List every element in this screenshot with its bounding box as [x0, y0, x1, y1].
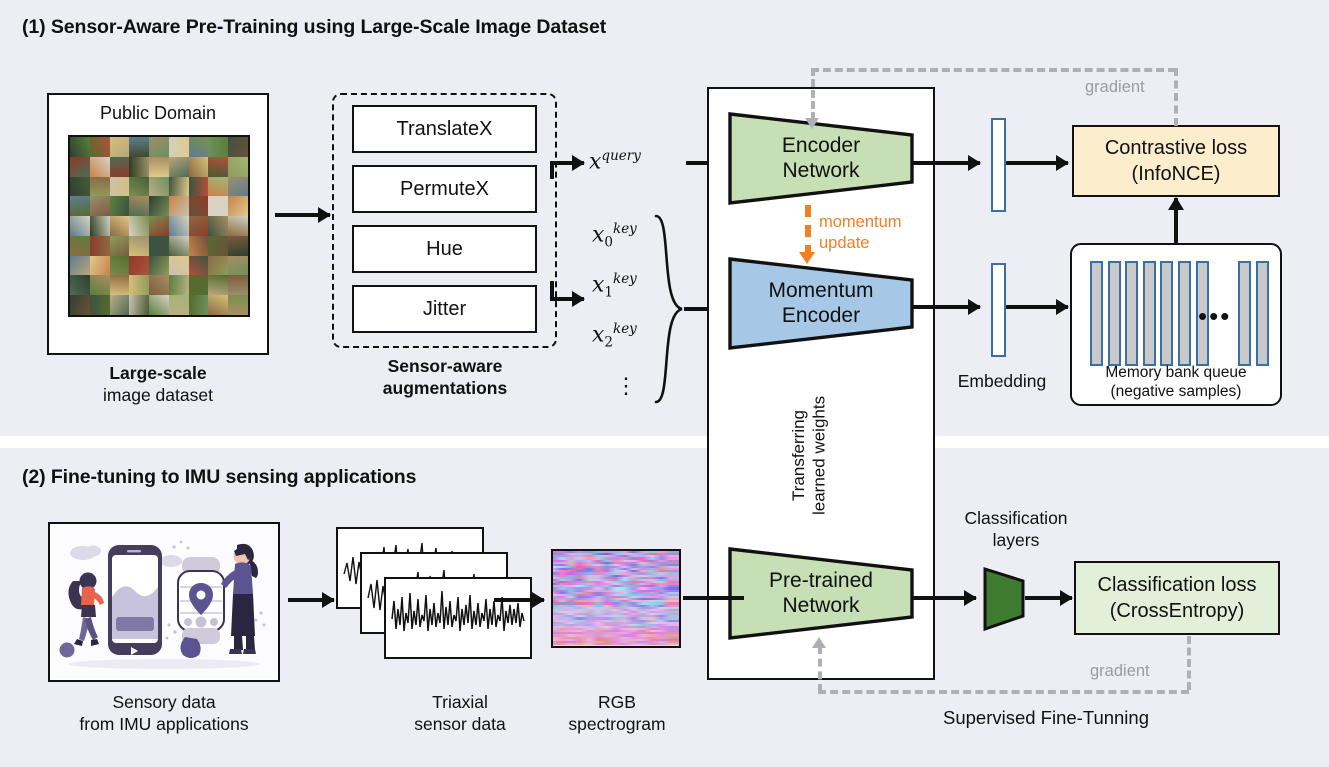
- mosaic-tile: [90, 256, 110, 276]
- mosaic-tile: [110, 216, 130, 236]
- mosaic-tile: [129, 275, 149, 295]
- gradient-top-right-vertical: [1174, 68, 1178, 126]
- encoder-network-label: Encoder Network: [782, 134, 860, 182]
- mosaic-tile: [110, 196, 130, 216]
- dataset-header: Public Domain: [47, 103, 269, 124]
- memory-bank-bar: [1238, 261, 1251, 366]
- mosaic-tile: [169, 256, 189, 276]
- sensory-data-caption: Sensory data from IMU applications: [10, 692, 318, 736]
- section-1-title: (1) Sensor-Aware Pre-Training using Larg…: [22, 16, 606, 39]
- mosaic-tile: [189, 216, 209, 236]
- classification-layers-shape: [982, 566, 1026, 632]
- mosaic-tile: [70, 216, 90, 236]
- query-label: xquery: [589, 148, 641, 174]
- mosaic-tile: [169, 275, 189, 295]
- waveform-plot-3: [386, 579, 530, 657]
- key-label-1: x1key: [592, 271, 637, 301]
- mosaic-tile: [189, 256, 209, 276]
- query-symbol: x: [589, 149, 601, 174]
- augmentation-item-hue[interactable]: Hue: [352, 225, 537, 273]
- memory-bank-bar: [1090, 261, 1103, 366]
- mosaic-tile: [189, 196, 209, 216]
- memory-bank-bar: [1256, 261, 1269, 366]
- mosaic-tile: [208, 236, 228, 256]
- arrow-pretrained-to-classification-layers: [912, 596, 976, 600]
- mosaic-tile: [228, 216, 248, 236]
- momentum-encoder-block[interactable]: Momentum Encoder: [726, 255, 916, 352]
- mosaic-tile: [70, 256, 90, 276]
- mosaic-tile: [70, 295, 90, 315]
- mosaic-tile: [149, 177, 169, 197]
- arrow-classification-layers-to-loss: [1025, 596, 1072, 600]
- arrow-embedding-to-memory-bank: [1006, 305, 1068, 309]
- gradient-bottom-horizontal: [818, 690, 1189, 694]
- mosaic-tile: [228, 275, 248, 295]
- mosaic-tile: [208, 196, 228, 216]
- mosaic-tile: [189, 137, 209, 157]
- mosaic-tile: [189, 177, 209, 197]
- section-2-title: (2) Fine-tuning to IMU sensing applicati…: [22, 466, 416, 489]
- spectrogram-caption: RGB spectrogram: [538, 692, 696, 736]
- dataset-image-grid: [68, 135, 250, 317]
- imu-illustration-svg: [51, 525, 277, 679]
- mosaic-tile: [208, 256, 228, 276]
- memory-bank-bar: [1160, 261, 1173, 366]
- mosaic-tile: [129, 256, 149, 276]
- contrastive-loss-box[interactable]: Contrastive loss (InfoNCE): [1072, 125, 1280, 197]
- mosaic-tile: [70, 137, 90, 157]
- mosaic-tile: [208, 177, 228, 197]
- mosaic-tile: [228, 137, 248, 157]
- mosaic-tile: [189, 295, 209, 315]
- mosaic-tile: [228, 295, 248, 315]
- momentum-encoder-label: Momentum Encoder: [768, 279, 873, 327]
- dataset-caption-rest: image dataset: [103, 385, 213, 405]
- mosaic-tile: [228, 236, 248, 256]
- mosaic-tile: [228, 177, 248, 197]
- mosaic-tile: [149, 196, 169, 216]
- gradient-bottom-label: gradient: [1090, 662, 1150, 681]
- mosaic-tile: [90, 157, 110, 177]
- mosaic-tile: [110, 157, 130, 177]
- mosaic-tile: [169, 196, 189, 216]
- line-spectrogram-to-pretrained-network: [683, 596, 744, 600]
- arrow-momentum-encoder-to-embedding: [912, 305, 980, 309]
- mosaic-tile: [70, 157, 90, 177]
- mosaic-tile: [169, 236, 189, 256]
- augmentations-caption-line1: Sensor-aware: [388, 356, 503, 376]
- mosaic-tile: [149, 236, 169, 256]
- classification-layers-block[interactable]: [982, 566, 1026, 632]
- triaxial-caption: Triaxial sensor data: [352, 692, 568, 736]
- gradient-top-horizontal: [811, 68, 1176, 72]
- mosaic-tile: [189, 275, 209, 295]
- mosaic-tile: [90, 196, 110, 216]
- memory-bank-bar: [1108, 261, 1121, 366]
- mosaic-tile: [169, 157, 189, 177]
- gradient-top-label: gradient: [1085, 78, 1145, 97]
- mosaic-tile: [228, 256, 248, 276]
- mosaic-tile: [208, 275, 228, 295]
- momentum-update-arrowhead-icon: [799, 252, 815, 264]
- mosaic-tile: [129, 216, 149, 236]
- mosaic-tile: [208, 157, 228, 177]
- keys-ellipsis: ⋮: [615, 380, 637, 391]
- key-label-2: x2key: [592, 321, 637, 351]
- mosaic-tile: [228, 196, 248, 216]
- mosaic-tile: [129, 236, 149, 256]
- contrastive-loss-label: Contrastive loss (InfoNCE): [1105, 135, 1247, 187]
- gradient-bottom-left-vertical: [818, 646, 822, 692]
- mosaic-tile: [169, 137, 189, 157]
- classification-loss-box[interactable]: Classification loss (CrossEntropy): [1074, 561, 1280, 635]
- embedding-bar-key: [991, 263, 1006, 357]
- mosaic-tile: [70, 177, 90, 197]
- supervised-finetuning-label: Supervised Fine-Tunning: [876, 706, 1216, 729]
- transfer-weights-note: Transferring learned weights: [789, 375, 830, 535]
- encoder-network-block[interactable]: Encoder Network: [726, 110, 916, 207]
- arrow-sensory-to-triaxial: [288, 598, 334, 602]
- mosaic-tile: [110, 236, 130, 256]
- memory-bank-bar: [1143, 261, 1156, 366]
- mosaic-tile: [129, 196, 149, 216]
- mosaic-tile: [110, 275, 130, 295]
- mosaic-tile: [189, 157, 209, 177]
- classification-layers-label: Classification layers: [942, 508, 1090, 552]
- mosaic-tile: [70, 275, 90, 295]
- mosaic-tile: [90, 275, 110, 295]
- gradient-top-left-vertical: [811, 68, 815, 120]
- augmentations-caption-line2: augmentations: [383, 378, 507, 398]
- mosaic-tile: [149, 137, 169, 157]
- mosaic-tile: [110, 177, 130, 197]
- mosaic-tile: [70, 196, 90, 216]
- dataset-caption-bold: Large-scale: [109, 363, 206, 383]
- mosaic-tile: [110, 256, 130, 276]
- mosaic-tile: [208, 216, 228, 236]
- mosaic-tile: [169, 177, 189, 197]
- mosaic-tile: [208, 295, 228, 315]
- sensory-data-illustration: [51, 525, 277, 679]
- memory-bank-bar: [1178, 261, 1191, 366]
- mosaic-tile: [70, 236, 90, 256]
- arrow-encoder-to-embedding: [912, 161, 980, 165]
- mosaic-tile: [129, 177, 149, 197]
- arrow-embedding-to-contrastive-loss: [1006, 161, 1068, 165]
- triaxial-frame-front: [384, 577, 532, 659]
- augmentations-caption: Sensor-aware augmentations: [320, 356, 570, 400]
- augmentation-item-permutex[interactable]: PermuteX: [352, 165, 537, 213]
- pretrained-network-label: Pre-trained Network: [769, 569, 873, 617]
- gradient-bottom-arrowhead-icon: [812, 637, 826, 648]
- mosaic-tile: [129, 295, 149, 315]
- rgb-spectrogram-image: [551, 549, 681, 648]
- pretrained-network-block[interactable]: Pre-trained Network: [726, 545, 916, 642]
- gradient-bottom-right-vertical: [1187, 636, 1191, 690]
- mosaic-tile: [228, 157, 248, 177]
- mosaic-tile: [90, 177, 110, 197]
- mosaic-tile: [149, 216, 169, 236]
- classification-loss-label: Classification loss (CrossEntropy): [1098, 572, 1257, 624]
- momentum-update-dashed-line: [805, 205, 811, 257]
- mosaic-tile: [90, 137, 110, 157]
- keys-brace-icon: [652, 214, 686, 404]
- momentum-update-label: momentum update: [819, 212, 902, 253]
- key-label-0: x0key: [592, 221, 637, 251]
- mosaic-tile: [90, 236, 110, 256]
- mosaic-tile: [90, 295, 110, 315]
- embedding-label: Embedding: [948, 371, 1056, 393]
- mosaic-tile: [110, 295, 130, 315]
- memory-bank-ellipsis: •••: [1198, 303, 1231, 329]
- mosaic-tile: [110, 137, 130, 157]
- gradient-top-arrowhead-icon: [805, 118, 819, 129]
- mosaic-tile: [149, 295, 169, 315]
- arrow-dataset-to-augmentations: [275, 213, 330, 217]
- dataset-caption: Large-scale image dataset: [37, 363, 279, 407]
- mosaic-tile: [208, 137, 228, 157]
- arrow-to-query: [550, 161, 584, 165]
- mosaic-tile: [169, 216, 189, 236]
- memory-bank-caption: Memory bank queue (negative samples): [1070, 363, 1282, 402]
- augmentation-item-jitter[interactable]: Jitter: [352, 285, 537, 333]
- memory-bank-bar: [1125, 261, 1138, 366]
- mosaic-tile: [90, 216, 110, 236]
- augmentation-query-branch-vertical: [550, 163, 554, 179]
- query-superscript: query: [601, 148, 640, 164]
- arrow-to-keys: [550, 297, 584, 301]
- mosaic-tile: [129, 157, 149, 177]
- mosaic-tile: [149, 275, 169, 295]
- augmentation-item-translatex[interactable]: TranslateX: [352, 105, 537, 153]
- spectrogram-row: [553, 647, 679, 648]
- mosaic-tile: [129, 137, 149, 157]
- mosaic-tile: [149, 157, 169, 177]
- embedding-bar-query: [991, 118, 1006, 212]
- arrow-memory-bank-to-contrastive-loss: [1174, 198, 1178, 244]
- mosaic-tile: [149, 256, 169, 276]
- mosaic-tile: [169, 295, 189, 315]
- arrow-triaxial-to-spectrogram: [494, 598, 544, 602]
- mosaic-tile: [189, 236, 209, 256]
